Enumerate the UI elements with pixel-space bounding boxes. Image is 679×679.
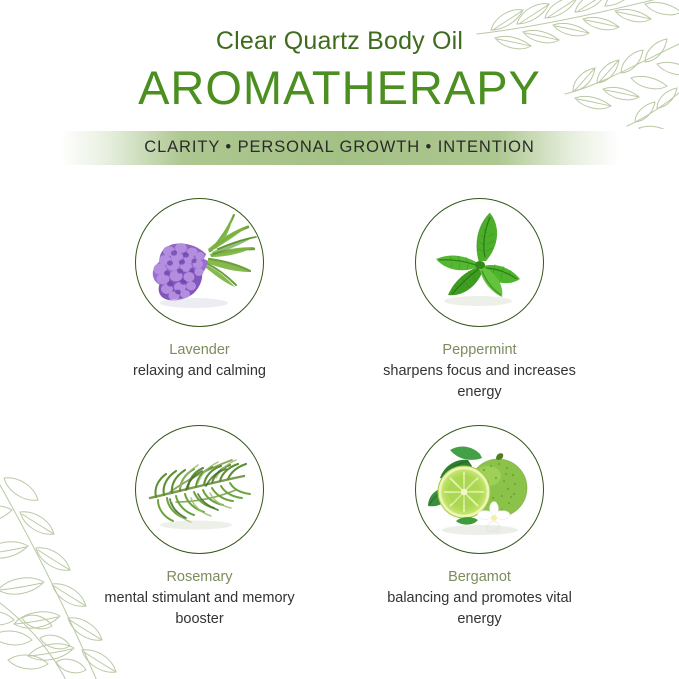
ingredients-grid: Lavender relaxing and calming <box>60 165 620 630</box>
tagline-banner: CLARITY • PERSONAL GROWTH • INTENTION <box>60 131 620 165</box>
ingredient-item-bergamot: Bergamot balancing and promotes vital en… <box>340 425 620 630</box>
lavender-sprig-icon <box>136 199 263 326</box>
bergamot-circle <box>415 425 544 554</box>
ingredient-description: relaxing and calming <box>133 361 266 382</box>
ingredient-title: Rosemary <box>166 567 232 588</box>
tagline-banner-wrap: CLARITY • PERSONAL GROWTH • INTENTION <box>0 131 679 165</box>
ingredient-description: balancing and promotes vital energy <box>370 588 590 630</box>
product-name: Clear Quartz Body Oil <box>0 26 679 56</box>
page-title: AROMATHERAPY <box>0 62 679 115</box>
rosemary-sprig-icon <box>136 426 263 553</box>
header: Clear Quartz Body Oil AROMATHERAPY <box>0 0 679 115</box>
tagline-text: CLARITY • PERSONAL GROWTH • INTENTION <box>144 138 534 157</box>
lavender-circle <box>135 198 264 327</box>
ingredient-description: sharpens focus and increases energy <box>370 361 590 403</box>
aromatherapy-poster: Clear Quartz Body Oil AROMATHERAPY CLARI… <box>0 0 679 679</box>
ingredient-item-peppermint: Peppermint sharpens focus and increases … <box>340 198 620 403</box>
rosemary-circle <box>135 425 264 554</box>
ingredient-item-lavender: Lavender relaxing and calming <box>60 198 340 403</box>
ingredient-title: Peppermint <box>442 340 516 361</box>
bergamot-citrus-icon <box>416 426 543 553</box>
ingredient-description: mental stimulant and memory booster <box>90 588 310 630</box>
ingredient-item-rosemary: Rosemary mental stimulant and memory boo… <box>60 425 340 630</box>
ingredient-title: Bergamot <box>448 567 511 588</box>
ingredient-title: Lavender <box>169 340 229 361</box>
peppermint-leaves-icon <box>416 199 543 326</box>
peppermint-circle <box>415 198 544 327</box>
